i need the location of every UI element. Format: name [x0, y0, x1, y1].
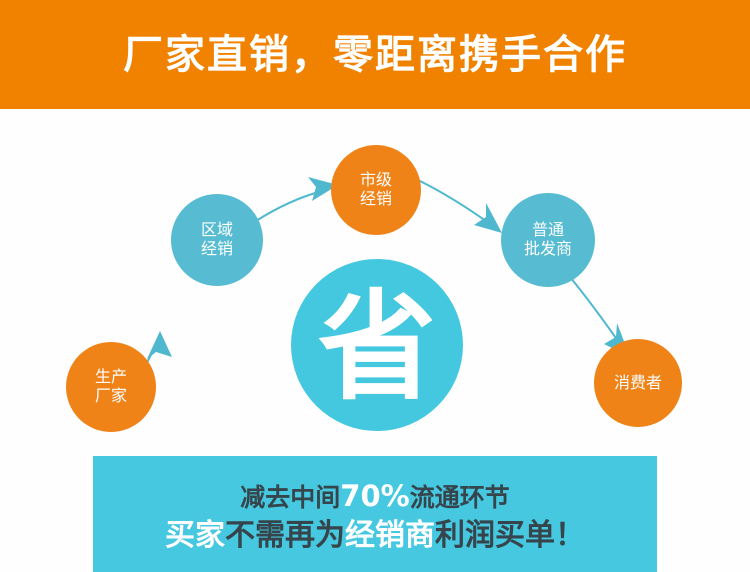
- arrow-regional-to-city: [256, 177, 338, 221]
- node-city-distributor[interactable]: 市级 经销: [331, 145, 421, 235]
- banner-line-1: 减去中间70%流通环节: [240, 478, 509, 514]
- banner-line2-highlight1: 买家: [165, 518, 225, 553]
- node-consumer-line1: 消费者: [614, 374, 662, 393]
- hub-label: 省: [318, 288, 436, 406]
- arrow-city-to-wholesaler: [420, 181, 502, 233]
- node-city-line2: 经销: [360, 190, 392, 209]
- header-banner: 厂家直销，零距离携手合作: [0, 0, 750, 109]
- promo-infographic-page: 厂家直销，零距离携手合作: [0, 0, 750, 572]
- node-consumer[interactable]: 消费者: [594, 339, 682, 427]
- banner-line1-part1: 减去中间: [240, 483, 340, 512]
- banner-line2-part2: 利润买单！: [435, 518, 585, 553]
- header-title: 厂家直销，零距离携手合作: [123, 35, 627, 75]
- node-regional-line1: 区域: [201, 221, 233, 240]
- node-wholesaler[interactable]: 普通 批发商: [501, 193, 595, 287]
- banner-line2-part1: 不需再为: [225, 518, 345, 553]
- node-regional-distributor[interactable]: 区域 经销: [171, 194, 263, 286]
- hub-circle-save: 省: [291, 259, 463, 431]
- node-producer[interactable]: 生产 厂家: [66, 342, 156, 432]
- node-city-line1: 市级: [360, 171, 392, 190]
- banner-line2-highlight2: 经销商: [345, 518, 435, 553]
- node-wholesaler-line2: 批发商: [524, 240, 572, 259]
- banner-line1-part2: 流通环节: [410, 483, 510, 512]
- node-producer-line1: 生产: [95, 368, 127, 387]
- banner-line-2: 买家不需再为经销商利润买单！: [165, 517, 585, 555]
- node-wholesaler-line1: 普通: [532, 221, 564, 240]
- node-regional-line2: 经销: [201, 240, 233, 259]
- banner-line1-highlight: 70%: [340, 479, 409, 513]
- distribution-flow-diagram: 省 生产 厂家 区域 经销 市级 经销 普通 批发商 消费者: [0, 109, 750, 456]
- bottom-message-banner: 减去中间70%流通环节 买家不需再为经销商利润买单！: [93, 456, 657, 572]
- node-producer-line2: 厂家: [95, 387, 127, 406]
